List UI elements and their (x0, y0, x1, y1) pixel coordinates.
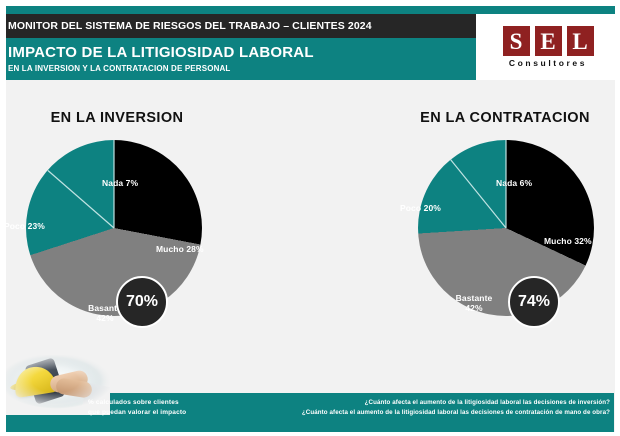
left-chart-pane: EN LA INVERSION Nada 7% Mucho 28% Poco 2… (6, 80, 228, 393)
right-label-bastante-name: Bastante (456, 293, 493, 303)
survey-question-2: ¿Cuánto afecta el aumento de la litigios… (302, 408, 610, 418)
logo-letter-l: L (567, 26, 594, 56)
footnote-calculation-basis: % calculados sobre clientes que puedan v… (88, 398, 186, 417)
right-chart-pane: EN LA CONTRATACION Nada 6% Mucho 32% Poc… (396, 80, 614, 393)
logo-letter-row: S E L (503, 26, 594, 56)
left-label-mucho: Mucho 28% (156, 244, 204, 254)
right-label-mucho: Mucho 32% (544, 236, 592, 246)
left-label-bastante-pct: 42% (96, 313, 113, 323)
right-label-bastante-pct: 42% (465, 303, 482, 313)
footnote-line-1: % calculados sobre clientes (88, 398, 186, 408)
frame-left-edge (0, 0, 6, 436)
header-accent-strip (0, 6, 620, 14)
survey-questions: ¿Cuánto afecta el aumento de la litigios… (302, 398, 610, 417)
footnote-line-2: que puedan valorar el impacto (88, 408, 186, 418)
logo-letter-s: S (503, 26, 530, 56)
frame-bottom-edge (0, 432, 620, 436)
sel-logo: S E L Consultores (476, 14, 620, 80)
left-label-poco: Poco 23% (4, 221, 45, 231)
logo-letter-e: E (535, 26, 562, 56)
right-pie-chart (418, 140, 594, 316)
survey-question-1: ¿Cuánto afecta el aumento de la litigios… (302, 398, 610, 408)
left-pie-chart (26, 140, 202, 316)
right-label-poco: Poco 20% (400, 203, 441, 213)
page-subtitle: EN LA INVERSION Y LA CONTRATACION DE PER… (8, 63, 476, 74)
main-title-bar: IMPACTO DE LA LITIGIOSIDAD LABORAL EN LA… (0, 38, 476, 80)
monitor-title: MONITOR DEL SISTEMA DE RIESGOS DEL TRABA… (0, 20, 372, 32)
right-pie-slice-separators (418, 140, 594, 316)
page-title: IMPACTO DE LA LITIGIOSIDAD LABORAL (8, 38, 476, 63)
left-chart-title: EN LA INVERSION (6, 80, 228, 126)
right-highlight-badge: 74% (508, 276, 560, 328)
frame-right-edge (615, 0, 620, 436)
infographic-slide: MONITOR DEL SISTEMA DE RIESGOS DEL TRABA… (0, 0, 620, 436)
left-pie-slice-separators (26, 140, 202, 316)
left-highlight-badge: 70% (116, 276, 168, 328)
monitor-title-bar: MONITOR DEL SISTEMA DE RIESGOS DEL TRABA… (0, 14, 476, 38)
left-label-nada: Nada 7% (102, 178, 138, 188)
right-pie-area: Nada 6% Mucho 32% Poco 20% Bastante 42% … (396, 126, 614, 341)
right-chart-title: EN LA CONTRATACION (396, 80, 614, 126)
right-label-bastante: Bastante 42% (434, 293, 514, 313)
logo-wordmark: Consultores (509, 58, 587, 68)
right-label-nada: Nada 6% (496, 178, 532, 188)
left-pie-area: Nada 7% Mucho 28% Poco 23% Basante 42% 7… (6, 126, 228, 341)
